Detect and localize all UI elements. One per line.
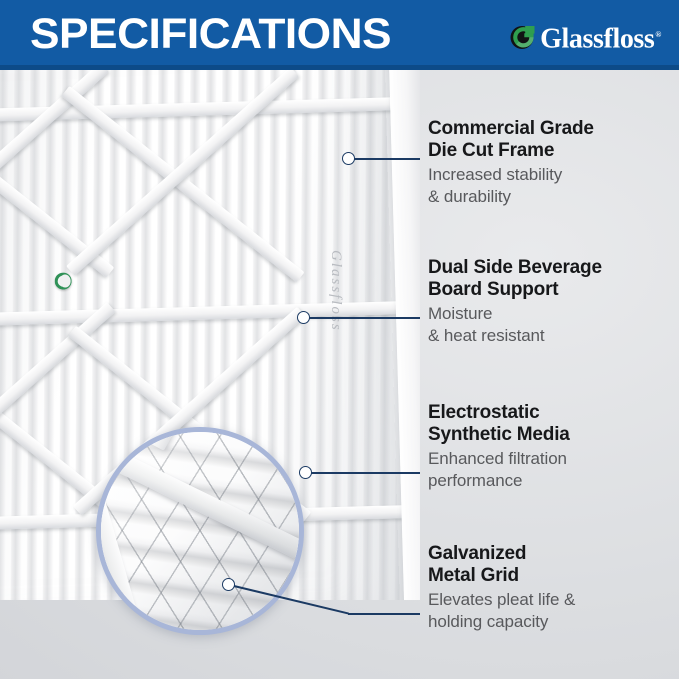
glassfloss-g-mark-icon bbox=[509, 23, 538, 52]
brand-logo: Glassfloss bbox=[509, 20, 661, 54]
magnifier-circle bbox=[96, 427, 304, 635]
magnifier-shading bbox=[97, 428, 303, 634]
callout-subtitle: Elevates pleat life & holding capacity bbox=[428, 589, 575, 632]
callout-commercial-grade-die-cut-frame: Commercial Grade Die Cut Frame Increased… bbox=[428, 118, 594, 207]
frame-brand-text: Glassfloss bbox=[327, 250, 344, 370]
callout-title: Commercial Grade Die Cut Frame bbox=[428, 118, 594, 161]
callout-galvanized-metal-grid: Galvanized Metal Grid Elevates pleat lif… bbox=[428, 543, 575, 632]
callout-dual-side-beverage-board-support: Dual Side Beverage Board Support Moistur… bbox=[428, 257, 602, 346]
callout-subtitle: Enhanced filtration performance bbox=[428, 448, 570, 491]
callout-title: Galvanized Metal Grid bbox=[428, 543, 575, 586]
callout-electrostatic-synthetic-media: Electrostatic Synthetic Media Enhanced f… bbox=[428, 402, 570, 491]
callout-subtitle: Increased stability & durability bbox=[428, 164, 594, 207]
leader-dot-4 bbox=[222, 578, 235, 591]
page-title: SPECIFICATIONS bbox=[30, 12, 391, 57]
magnified-media bbox=[97, 428, 303, 634]
brand-name: Glassfloss bbox=[540, 20, 661, 53]
header-bar: SPECIFICATIONS Glassfloss bbox=[0, 0, 679, 70]
callout-subtitle: Moisture & heat resistant bbox=[428, 303, 602, 346]
specifications-infographic: SPECIFICATIONS Glassfloss bbox=[0, 0, 679, 679]
callout-title: Dual Side Beverage Board Support bbox=[428, 257, 602, 300]
callout-title: Electrostatic Synthetic Media bbox=[428, 402, 570, 445]
